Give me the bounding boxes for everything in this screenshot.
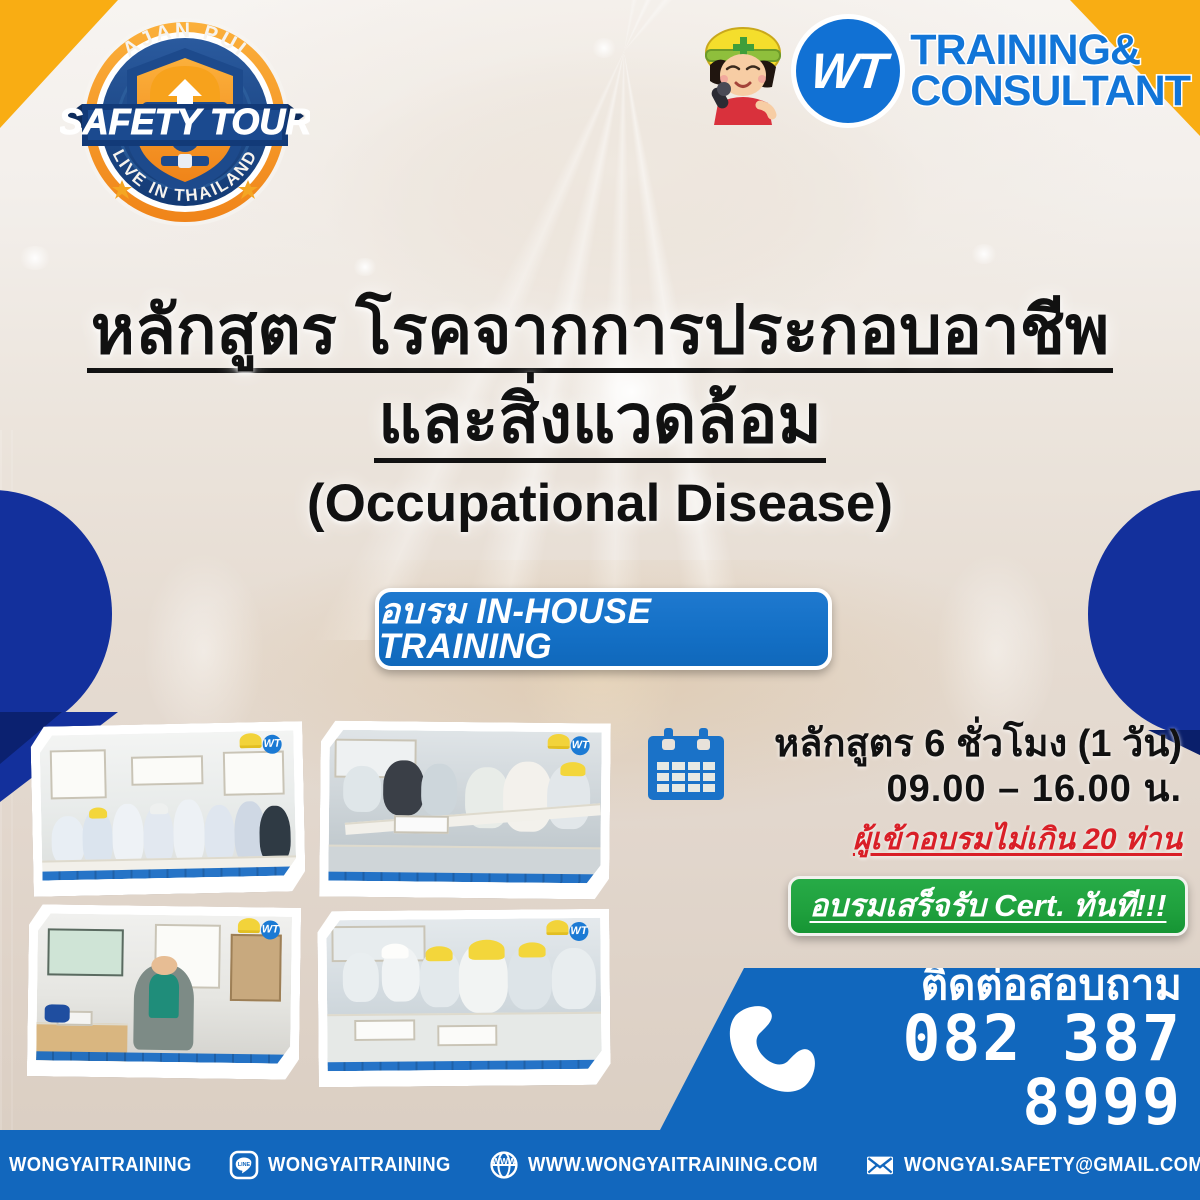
- footer-item-line[interactable]: LINE WONGYAITRAINING: [218, 1150, 478, 1180]
- promo-poster: SAFETY TOUR AJAN PUI LIVE IN THAILAND: [0, 0, 1200, 1200]
- contact-label: ติดต่อสอบถาม: [840, 963, 1182, 1007]
- photo-footer-strip: [328, 872, 600, 884]
- wt-badge: WT: [796, 19, 900, 123]
- calendar-icon: [648, 728, 724, 800]
- gallery-photo-group-photo-lab-classroom[interactable]: WT: [30, 721, 306, 897]
- helmet-icon: [239, 733, 261, 748]
- safety-tour-logo: SAFETY TOUR AJAN PUI LIVE IN THAILAND: [60, 4, 310, 238]
- contact-phone-number[interactable]: 082 387 8999: [840, 1007, 1182, 1136]
- phone-icon: [712, 997, 824, 1101]
- wt-badge-text: WT: [809, 46, 888, 96]
- safety-tour-banner-text: SAFETY TOUR: [60, 101, 310, 142]
- line-icon: LINE: [229, 1150, 259, 1180]
- footer-item-facebook[interactable]: WONGYAITRAINING: [0, 1150, 218, 1180]
- certificate-label: อบรมเสร็จรับ Cert. ทันที!!!: [810, 890, 1167, 921]
- schedule-block: หลักสูตร 6 ชั่วโมง (1 วัน) 09.00 – 16.00…: [648, 722, 1188, 936]
- ceiling-light-icon: [352, 258, 378, 276]
- footer-email-text: WONGYAI.SAFETY@GMAIL.COM: [904, 1154, 1200, 1177]
- certificate-button[interactable]: อบรมเสร็จรับ Cert. ทันที!!!: [788, 876, 1188, 936]
- wt-watermark-icon: WT: [262, 734, 288, 757]
- helmet-icon: [548, 734, 570, 749]
- contact-panel: ติดต่อสอบถาม 082 387 8999: [660, 968, 1200, 1130]
- wt-wordmark: TRAINING& CONSULTANT: [910, 30, 1190, 113]
- gallery-photo-instructor-presenting[interactable]: WT: [27, 904, 301, 1080]
- footer-line-text: WONGYAITRAINING: [268, 1154, 451, 1177]
- email-icon: [865, 1150, 895, 1180]
- helmet-icon: [238, 918, 260, 933]
- svg-text:LINE: LINE: [238, 1162, 251, 1168]
- footer-facebook-text: WONGYAITRAINING: [9, 1154, 192, 1177]
- ceiling-light-icon: [591, 38, 617, 58]
- footer-bar: WONGYAITRAINING LINE WONGYAITRAINING WWW…: [0, 1130, 1200, 1200]
- ceiling-light-icon: [18, 246, 52, 270]
- www-icon: WWW: [489, 1150, 519, 1180]
- wt-watermark-icon: WT: [261, 920, 287, 942]
- in-house-training-label: อบรม IN-HOUSE TRAINING: [379, 594, 828, 664]
- title-line-2: และสิ่งแวดล้อม: [374, 383, 826, 464]
- wt-line2-text: CONSULTANT: [910, 71, 1190, 112]
- wt-watermark-icon: WT: [569, 922, 595, 944]
- course-duration: หลักสูตร 6 ชั่วโมง (1 วัน): [738, 722, 1182, 767]
- footer-website-text: WWW.WONGYAITRAINING.COM: [528, 1154, 818, 1177]
- wt-training-logo: WT TRAINING& CONSULTANT: [700, 8, 1190, 134]
- title-line-1: หลักสูตร โรคจากการประกอบอาชีพ: [87, 296, 1114, 373]
- ceiling-light-icon: [970, 244, 998, 264]
- course-time: 09.00 – 16.00 น.: [738, 767, 1182, 812]
- title-line-3-english: (Occupational Disease): [0, 475, 1200, 533]
- wt-watermark-icon: WT: [571, 736, 597, 758]
- course-capacity: ผู้เข้าอบรมไม่เกิน 20 ท่าน: [738, 816, 1182, 863]
- gallery-photo-hearing-test-workshop[interactable]: WT: [319, 720, 611, 899]
- photo-gallery: WT WT: [22, 718, 622, 1086]
- in-house-training-button[interactable]: อบรม IN-HOUSE TRAINING: [375, 588, 832, 670]
- svg-text:WWW: WWW: [492, 1156, 517, 1166]
- page-title: หลักสูตร โรคจากการประกอบอาชีพ และสิ่งแวด…: [0, 296, 1200, 534]
- footer-item-email[interactable]: WONGYAI.SAFETY@GMAIL.COM: [854, 1150, 1200, 1180]
- photo-footer-strip: [328, 1060, 602, 1071]
- gallery-photo-trainees-practicing[interactable]: WT: [317, 909, 611, 1088]
- footer-item-website[interactable]: WWW WWW.WONGYAITRAINING.COM: [478, 1150, 854, 1180]
- engineer-mascot-icon: [700, 17, 786, 125]
- helmet-icon: [546, 920, 568, 935]
